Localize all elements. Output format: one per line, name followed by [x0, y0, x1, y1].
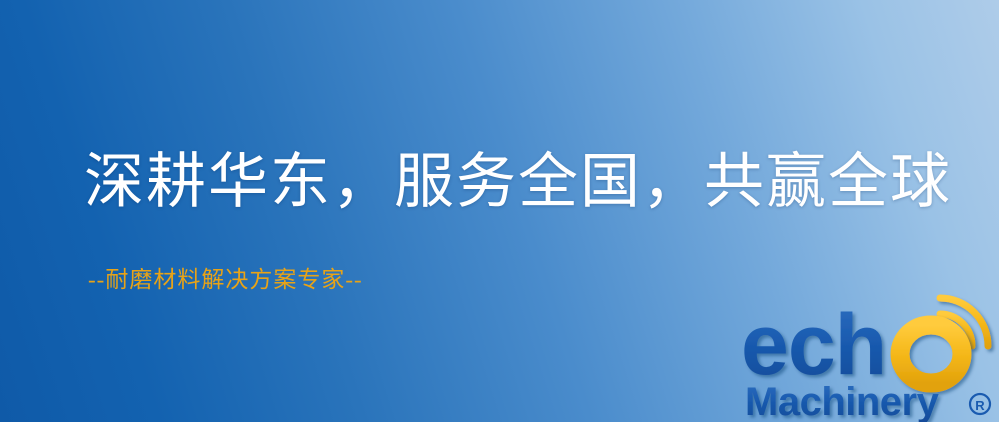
echo-machinery-logo[interactable]: ech Machinery R	[737, 286, 999, 422]
banner-subtitle: --耐磨材料解决方案专家--	[88, 268, 363, 291]
logo-wordmark-ech: ech	[741, 297, 886, 393]
registered-mark-icon: R	[970, 394, 990, 414]
banner-headline: 深耕华东，服务全国，共赢全球	[84, 152, 952, 212]
logo-tagline: Machinery	[745, 380, 940, 422]
promo-banner: 深耕华东，服务全国，共赢全球 --耐磨材料解决方案专家--	[0, 0, 999, 422]
svg-text:R: R	[975, 398, 985, 413]
logo-letter-o	[900, 325, 962, 383]
